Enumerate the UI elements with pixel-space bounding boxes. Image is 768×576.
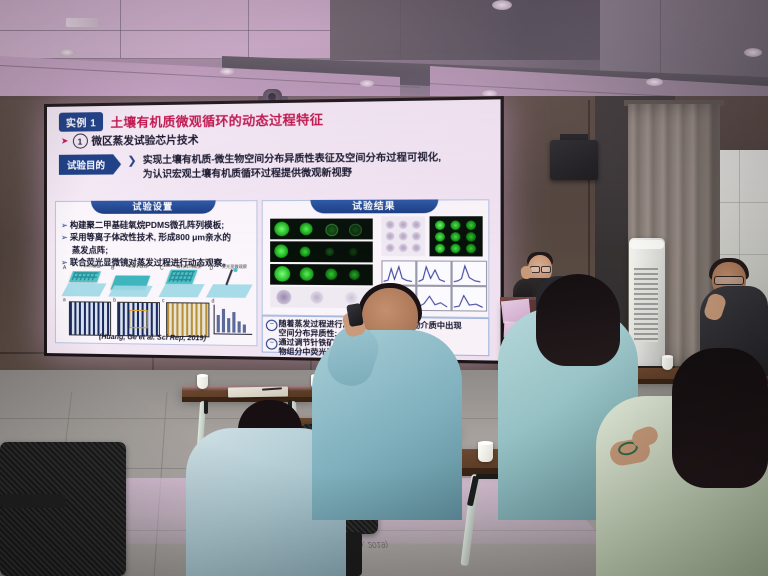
slide-badge: 实例 1: [59, 112, 103, 132]
ceiling-seam: [120, 0, 121, 58]
micrograph-c: [166, 302, 209, 337]
figure-label-D: D: [209, 266, 213, 272]
chip-baseplate: [108, 286, 153, 297]
figure-label-A: A: [63, 265, 66, 271]
ceiling-strip-light: [66, 18, 98, 27]
goal-text-line2: 为认识宏观土壤有机质循环过程提供微观新视野: [143, 167, 352, 180]
cup-rim: [197, 374, 208, 377]
bullet-marker-icon: ➢: [61, 220, 68, 230]
goal-text: 实现土壤有机质-微生物空间分布异质性表征及空间分布过程可视化, 为认识宏观土壤有…: [143, 151, 441, 182]
ceiling-downlight: [360, 80, 374, 87]
micrograph-a: [69, 301, 111, 336]
bullet-0: 构建聚二甲基硅氧烷PDMS微孔阵列模板;: [70, 220, 224, 230]
fluorescence-row-2: [270, 241, 373, 262]
section-number: 1: [72, 133, 87, 148]
sub-label-c: c: [162, 298, 165, 304]
ceiling-seam: [660, 0, 661, 76]
slide-section-row: ➤ 1 微区蒸发试验芯片技术: [61, 132, 199, 149]
fluorescence-row-3: [270, 264, 373, 285]
figure-label-C: C: [160, 266, 164, 272]
fluorescence-row-1: [270, 219, 373, 240]
ceiling-far-section: [600, 0, 768, 76]
goal-text-line1: 实现土壤有机质-微生物空间分布异质性表征及空间分布过程可视化,: [143, 152, 441, 166]
bar: [243, 324, 246, 332]
chip-micropores: [71, 272, 98, 280]
observation-stage: [206, 284, 253, 298]
mineral-grid-figure: [381, 216, 425, 256]
cup-rim: [478, 441, 493, 445]
ceiling-downlight: [744, 48, 762, 57]
chair-armrest: [0, 494, 66, 508]
slide-title: 土壤有机质微观循环的动态过程特征: [110, 109, 323, 132]
bar: [232, 312, 235, 333]
bullet-1: 采用等离子体改性技术, 形成800 μm亲水的: [70, 232, 231, 242]
note-marker-1: −: [266, 338, 278, 350]
section-title: 微区蒸发试验芯片技术: [91, 132, 198, 148]
left-panel-bullets: ➢构建聚二甲基硅氧烷PDMS微孔阵列模板; ➢采用等离子体改性技术, 形成800…: [61, 219, 231, 270]
paper-cup: [478, 442, 493, 462]
fluorescence-grid-figure: [430, 216, 483, 256]
figure-caption-A: PDMS模板: [81, 263, 101, 269]
goal-label: 试验目的: [59, 154, 113, 175]
attendee-far-right-glasses: [714, 276, 744, 285]
right-panel-header: 试验结果: [310, 199, 438, 213]
air-conditioner-top: [630, 240, 664, 249]
array-micropores: [168, 271, 195, 282]
figure-label-B: B: [111, 265, 114, 271]
cup-rim: [662, 355, 673, 358]
sub-label-b: b: [113, 298, 116, 304]
bar: [222, 309, 225, 333]
wall-speaker-icon: [550, 140, 598, 180]
bar: [227, 318, 230, 332]
slide-goal-row: 试验目的 ❯ 实现土壤有机质-微生物空间分布异质性表征及空间分布过程可视化, 为…: [59, 150, 492, 182]
bullet-marker-icon: ➢: [61, 232, 68, 242]
ceiling-downlight: [646, 78, 663, 86]
slide-content: 实例 1 土壤有机质微观循环的动态过程特征 ➤ 1 微区蒸发试验芯片技术 试验目…: [47, 99, 501, 360]
ceiling-downlight: [220, 68, 234, 75]
paper-cup: [197, 375, 208, 389]
attendee-foreground-hair: [672, 348, 768, 488]
air-conditioner-vent: [634, 268, 658, 342]
chip-baseplate: [61, 283, 106, 296]
slide-title-row: 实例 1 土壤有机质微观循环的动态过程特征: [59, 106, 494, 132]
presentation-room-photo: 实例 1 土壤有机质微观循环的动态过程特征 ➤ 1 微区蒸发试验芯片技术 试验目…: [0, 0, 768, 576]
bar: [238, 321, 241, 332]
presenter-glasses-right: [541, 266, 551, 273]
micrograph-b-roi: [129, 310, 147, 328]
ceiling-seam: [400, 0, 401, 60]
probe-tip-icon: [233, 268, 237, 272]
ceiling-downlight: [58, 48, 76, 57]
sub-label-a: a: [63, 297, 66, 303]
projection-screen: 实例 1 土壤有机质微观循环的动态过程特征 ➤ 1 微区蒸发试验芯片技术 试验目…: [44, 96, 504, 364]
table-bracket: [204, 400, 208, 414]
chair[interactable]: [0, 442, 126, 576]
chip-baseplate: [158, 284, 204, 298]
ceiling-downlight: [492, 0, 512, 10]
ceiling-seam: [520, 0, 521, 60]
left-panel-header: 试验设置: [91, 200, 216, 214]
note-marker-0: −: [266, 320, 278, 331]
attendee-teal-hair: [536, 274, 620, 366]
figure-caption-B: 等离子改性: [127, 263, 147, 269]
ceiling-seam: [248, 0, 249, 58]
ceiling-seam: [0, 30, 330, 31]
bullet-arrow-icon: ➤: [61, 136, 69, 147]
paper-cup: [662, 356, 673, 370]
bullet-2: 蒸发点阵;: [72, 245, 108, 255]
chevron-right-icon: ❯: [127, 154, 136, 167]
bar: [217, 315, 220, 332]
